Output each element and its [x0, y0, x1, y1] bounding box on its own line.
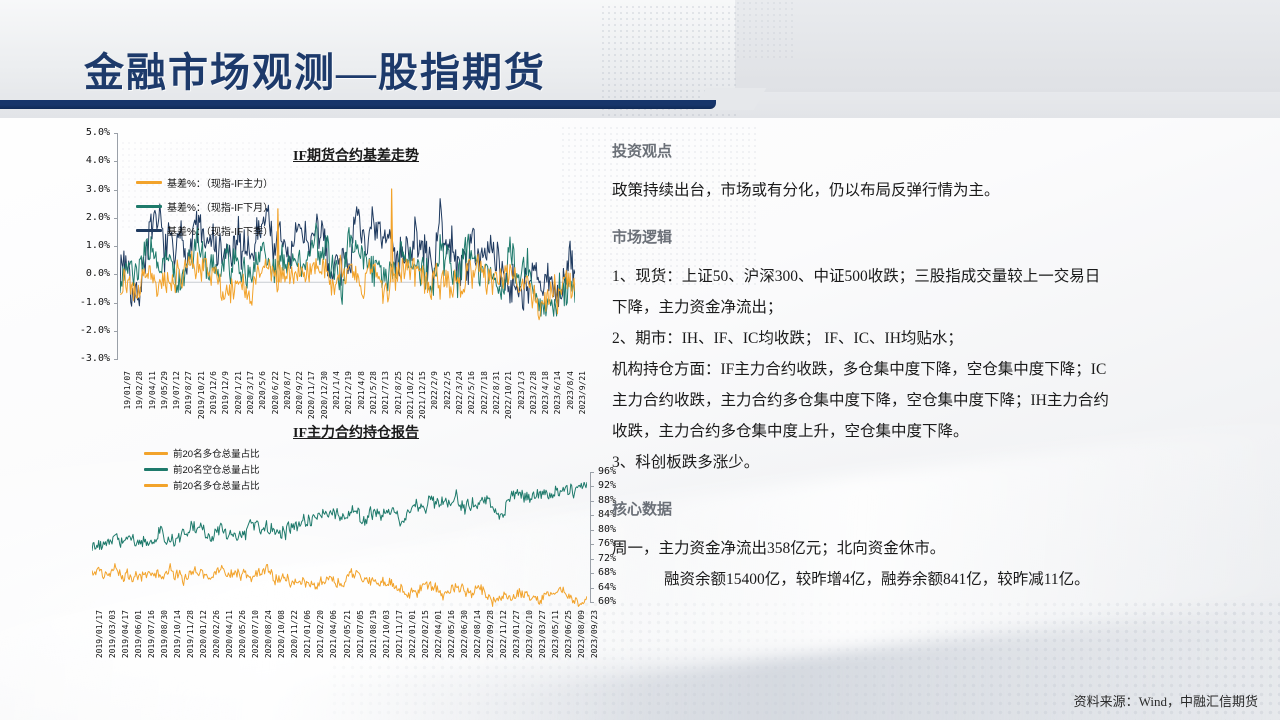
dot-pattern-decoration: [735, 0, 795, 60]
commentary-line: 下降，主力资金净流出；: [612, 292, 1252, 323]
x-axis-tick: 2022/7/18: [480, 371, 489, 414]
y-axis-tick: -1.0%: [80, 297, 110, 308]
x-axis-tick: 2019/04/17: [121, 610, 130, 658]
x-axis-tick: 2022/05/16: [447, 610, 456, 658]
x-axis-tick: 2021/8/25: [394, 371, 403, 414]
chart1-legend: 基差%：（现指-IF主力）基差%：（现指-IF下月）基差%：（现指-IF下季）: [136, 175, 273, 238]
commentary-line: 周一，主力资金净流出358亿元；北向资金休市。: [612, 533, 1252, 564]
legend-label: 基差%：（现指-IF主力）: [167, 175, 273, 190]
x-axis-tick: 2020/11/22: [290, 610, 299, 658]
legend-item[interactable]: 基差%：（现指-IF下月）: [136, 199, 273, 214]
chart1-y-axis: 5.0%4.0%3.0%2.0%1.0%0.0%-1.0%-2.0%-3.0%: [56, 133, 118, 367]
chart-if-basis: IF期货合约基差走势 5.0%4.0%3.0%2.0%1.0%0.0%-1.0%…: [56, 133, 586, 413]
x-axis-tick: 19/01/07: [123, 371, 132, 410]
legend-item[interactable]: 前20名多仓总量占比: [144, 446, 260, 460]
x-axis-tick: 2021/5/28: [369, 371, 378, 414]
x-axis-tick: 19/07/12: [172, 371, 181, 410]
x-axis-tick: 2020/11/17: [307, 371, 316, 419]
commentary-line: 政策持续出台，市场或有分化，仍以布局反弹行情为主。: [612, 175, 1252, 206]
legend-color-swatch: [144, 468, 168, 471]
y-axis-tick: 5.0%: [86, 127, 110, 138]
x-axis-tick: 2022/06/30: [460, 610, 469, 658]
x-axis-tick: 2022/01/01: [408, 610, 417, 658]
section-spacer: [612, 206, 1252, 226]
x-axis-tick: 2020/1/21: [234, 371, 243, 414]
x-axis-tick: 2021/11/17: [395, 610, 404, 658]
x-axis-tick: 2020/3/17: [246, 371, 255, 414]
source-footnote: 资料来源：Wind，中融汇信期货: [1074, 691, 1258, 710]
x-axis-tick: 2022/11/12: [499, 610, 508, 658]
x-axis-tick: 2022/3/24: [455, 371, 464, 414]
x-axis-tick: 2021/2/19: [344, 371, 353, 414]
x-axis-tick: 2020/12/30: [320, 371, 329, 419]
x-axis-tick: 2022/10/21: [504, 371, 513, 419]
x-axis-tick: 2020/02/26: [212, 610, 221, 658]
commentary-line: 2、期市：IH、IF、IC均收跌； IF、IC、IH均贴水；: [612, 323, 1252, 354]
x-axis-tick: 2021/10/03: [382, 610, 391, 658]
header-accent-rule: [0, 100, 716, 109]
legend-color-swatch: [144, 452, 168, 455]
x-axis-tick: 2022/09/28: [486, 610, 495, 658]
x-axis-tick: 2022/2/9: [430, 371, 439, 410]
chart2-plot-area: [92, 482, 587, 610]
commentary-line: 融资余额15400亿，较昨增4亿，融券余额841亿，较昨减11亿。: [612, 564, 1252, 595]
x-axis-tick: 2021/08/19: [369, 610, 378, 658]
legend-label: 前20名空仓总量占比: [173, 462, 260, 476]
legend-item[interactable]: 基差%：（现指-IF下季）: [136, 223, 273, 238]
chart-title: IF主力合约持仓报告: [206, 422, 506, 442]
x-axis-tick: 2023/4/18: [541, 371, 550, 414]
x-axis-tick: 19/04/11: [148, 371, 157, 410]
legend-label: 基差%：（现指-IF下月）: [167, 199, 273, 214]
x-axis-tick: 2023/01/27: [512, 610, 521, 658]
legend-color-swatch: [136, 181, 162, 184]
x-axis-tick: 2021/4/8: [357, 371, 366, 410]
section-heading: 市场逻辑: [612, 226, 1252, 247]
x-axis-tick: 2023/6/14: [553, 371, 562, 414]
x-axis-tick: 2019/01/17: [95, 610, 104, 658]
legend-label: 基差%：（现指-IF下季）: [167, 223, 273, 238]
header-band: 金融市场观测—股指期货: [0, 0, 1280, 118]
legend-item[interactable]: 基差%：（现指-IF主力）: [136, 175, 273, 190]
x-axis-tick: 2020/8/7: [283, 371, 292, 410]
chart2-series-svg: [92, 482, 587, 610]
x-axis-tick: 2019/08/30: [160, 610, 169, 658]
x-axis-tick: 2023/08/09: [577, 610, 586, 658]
commentary-line: 3、科创板跌多涨少。: [612, 447, 1252, 478]
x-axis-tick: 2022/8/31: [492, 371, 501, 414]
y-axis-tickmark: [590, 602, 594, 603]
x-axis-tick: 2021/7/13: [381, 371, 390, 414]
commentary-line: 主力合约收跌，主力合约多仓集中度下降，空仓集中度下降；IH主力合约: [612, 385, 1252, 416]
y-axis-tickmark: [114, 359, 118, 360]
y-axis-tick: -2.0%: [80, 325, 110, 336]
chart-if-positions: IF主力合约持仓报告 前20名多仓总量占比前20名空仓总量占比前20名多仓总量占…: [56, 420, 586, 680]
x-axis-tick: 2020/6/22: [271, 371, 280, 414]
x-axis-tick: 2020/07/10: [251, 610, 260, 658]
y-axis-tick: -3.0%: [80, 353, 110, 364]
x-axis-tick: 2021/05/21: [343, 610, 352, 658]
commentary-line: 1、现货：上证50、沪深300、中证500收跌；三股指成交量较上一交易日: [612, 261, 1252, 292]
legend-color-swatch: [136, 205, 162, 208]
header-band-right: [735, 0, 1280, 92]
x-axis-tick: 2022/02/15: [421, 610, 430, 658]
x-axis-tick: 2019/12/6: [209, 371, 218, 414]
y-axis-tick: 1.0%: [86, 240, 110, 251]
commentary-line: 机构持仓方面：IF主力合约收跌，多仓集中度下降，空仓集中度下降；IC: [612, 354, 1252, 385]
x-axis-tick: 2023/09/23: [590, 610, 599, 658]
page-title: 金融市场观测—股指期货: [84, 40, 546, 98]
y-axis-line: [590, 472, 591, 602]
x-axis-tick: 2019/8/27: [184, 371, 193, 414]
commentary-line: 收跌，主力合约多仓集中度上升，空仓集中度下降。: [612, 416, 1252, 447]
section-heading: 核心数据: [612, 498, 1252, 519]
legend-color-swatch: [136, 229, 162, 232]
x-axis-tick: 19/05/29: [160, 371, 169, 410]
x-axis-tick: 2020/9/22: [295, 371, 304, 414]
section-heading: 投资观点: [612, 140, 1252, 161]
x-axis-tick: 2022/5/16: [467, 371, 476, 414]
x-axis-tick: 2023/03/27: [538, 610, 547, 658]
y-axis-line: [117, 133, 118, 359]
x-axis-tick: 2019/03/03: [108, 610, 117, 658]
y-axis-tick: 0.0%: [86, 268, 110, 279]
x-axis-tick: 2021/07/05: [356, 610, 365, 658]
x-axis-tick: 2019/11/28: [186, 610, 195, 658]
x-axis-tick: 2019/10/14: [173, 610, 182, 658]
x-axis-tick: 19/02/28: [135, 371, 144, 410]
x-axis-tick: 2019/06/01: [134, 610, 143, 658]
x-axis-tick: 2023/05/11: [551, 610, 560, 658]
x-axis-tick: 2023/1/3: [517, 371, 526, 410]
x-axis-tick: 2019/10/21: [197, 371, 206, 419]
commentary-panel: 投资观点政策持续出台，市场或有分化，仍以布局反弹行情为主。市场逻辑1、现货：上证…: [612, 140, 1252, 660]
x-axis-tick: 2022/08/14: [473, 610, 482, 658]
x-axis-tick: 2020/08/24: [264, 610, 273, 658]
legend-item[interactable]: 前20名空仓总量占比: [144, 462, 260, 476]
x-axis-tick: 2021/04/06: [329, 610, 338, 658]
y-axis-tick: 2.0%: [86, 212, 110, 223]
x-axis-tick: 2021/10/22: [406, 371, 415, 419]
x-axis-tick: 2021/12/15: [418, 371, 427, 419]
chart2-x-axis: 2019/01/172019/03/032019/04/172019/06/01…: [92, 610, 592, 674]
x-axis-tick: 2021/01/06: [303, 610, 312, 658]
x-axis-tick: 2023/06/25: [564, 610, 573, 658]
x-axis-tick: 2022/04/01: [434, 610, 443, 658]
slide-canvas: 金融市场观测—股指期货 IF期货合约基差走势 5.0%4.0%3.0%2.0%1…: [0, 0, 1280, 720]
x-axis-tick: 2020/01/12: [199, 610, 208, 658]
x-axis-tick: 2023/8/4: [566, 371, 575, 410]
y-axis-tick: 4.0%: [86, 155, 110, 166]
y-axis-tick: 3.0%: [86, 184, 110, 195]
x-axis-tick: 2020/04/11: [225, 610, 234, 658]
x-axis-tick: 2023/2/28: [529, 371, 538, 414]
x-axis-tick: 2021/02/20: [316, 610, 325, 658]
section-spacer: [612, 478, 1252, 498]
x-axis-tick: 2023/9/21: [578, 371, 587, 414]
x-axis-tick: 2019/07/16: [147, 610, 156, 658]
x-axis-tick: 2020/10/08: [277, 610, 286, 658]
x-axis-tick: 2021/1/4: [332, 371, 341, 410]
x-axis-tick: 2020/05/26: [238, 610, 247, 658]
x-axis-tick: 2019/12/9: [221, 371, 230, 414]
x-axis-tick: 2020/5/6: [258, 371, 267, 410]
legend-label: 前20名多仓总量占比: [173, 446, 260, 460]
x-axis-tick: 2022/2/5: [443, 371, 452, 410]
x-axis-tick: 2023/02/10: [525, 610, 534, 658]
